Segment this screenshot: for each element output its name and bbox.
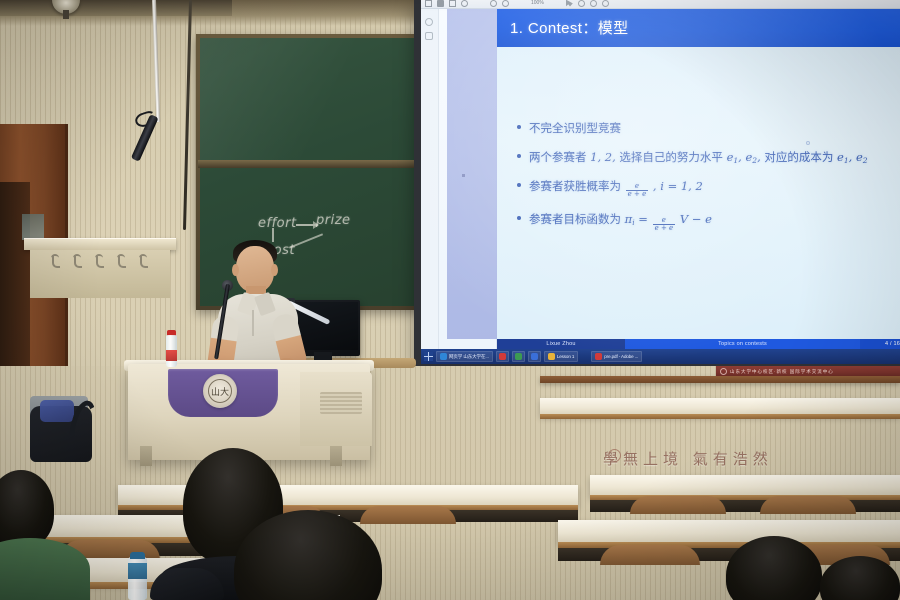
bullet-2-tail: 对应的成本为 — [764, 150, 833, 164]
coat-hook-icon — [96, 256, 104, 268]
seat-backrest — [760, 496, 856, 514]
pdf-thumbnail-marker — [462, 174, 465, 177]
speaker-shirt-placket — [252, 310, 254, 336]
slide-bullet-1: 不完全识别型竞赛 — [515, 120, 895, 136]
zoom-level-label: 100% — [531, 0, 544, 6]
backpack-pocket — [40, 400, 74, 422]
rotate-right-icon[interactable] — [502, 0, 509, 7]
chalkboard-sheen — [200, 38, 438, 160]
bullet-4-pi: πi — [625, 212, 635, 226]
search-icon[interactable] — [461, 0, 468, 7]
bullet-2-effort-vars: e1, e2, — [727, 150, 761, 164]
coat-rack-shelf — [24, 238, 176, 250]
taskbar-item-spreadsheet[interactable] — [512, 351, 525, 362]
thumbnails-icon[interactable] — [425, 18, 433, 26]
bullet-1-text: 不完全识别型竞赛 — [529, 121, 621, 135]
bullet-4-lead: 参赛者目标函数为 — [529, 212, 621, 226]
select-icon[interactable] — [566, 0, 573, 7]
bullet-4-equals: = — [638, 212, 648, 226]
presentation-icon — [531, 353, 538, 360]
seat-backrest — [600, 545, 700, 565]
slide-dust-speck — [806, 141, 810, 145]
taskbar-item-browser[interactable]: 网页学 山东大学在... — [436, 351, 493, 362]
bullet-2-mid: 选择自己的努力水平 — [619, 150, 723, 164]
taskbar-item-pdf[interactable] — [496, 351, 509, 362]
foreground-water-bottle-label — [128, 563, 147, 579]
ceiling-beam — [0, 0, 232, 16]
bullet-3-lead: 参赛者获胜概率为 — [529, 179, 621, 193]
pdf-viewer-toolbar[interactable]: 100% — [421, 0, 900, 9]
start-button-icon[interactable] — [424, 352, 433, 361]
coat-hook-icon — [52, 256, 60, 268]
water-bottle-label — [166, 350, 177, 361]
snapshot-icon[interactable] — [449, 0, 456, 7]
document-icon — [548, 353, 555, 360]
beamer-topic: Topics on contests — [625, 339, 860, 349]
taskbar-item-presentation[interactable] — [528, 351, 541, 362]
university-emblem: 山大 — [203, 374, 237, 408]
beamer-footline: Lixue Zhou Topics on contests 4 / 16 — [497, 339, 900, 349]
desk-lip — [540, 414, 900, 419]
bullet-3-tail: , i = 1, 2 — [653, 179, 703, 193]
taskbar-item-document[interactable]: Lesson 1 — [544, 351, 578, 362]
pdf-thumbnail-pane-fill[interactable] — [447, 9, 497, 339]
zoom-out-icon[interactable] — [590, 0, 597, 7]
podium-leg — [140, 446, 152, 466]
slide-bullet-3: 参赛者获胜概率为 e e + e , i = 1, 2 — [515, 178, 895, 198]
chalk-note-prize: prize — [316, 213, 351, 228]
podium-vent — [320, 392, 362, 414]
bullet-2-lead: 两个参赛者 — [529, 150, 587, 164]
zoom-in-icon[interactable] — [602, 0, 609, 7]
chalkboard-chalk-rail — [198, 160, 440, 168]
seat-backrest — [630, 496, 726, 514]
chalk-arrow-icon — [296, 224, 318, 226]
desk-row-right-1 — [590, 475, 900, 497]
taskbar-item-document-label: Lesson 1 — [557, 354, 574, 359]
adobe-reader-icon — [595, 353, 602, 360]
browser-icon — [440, 353, 447, 360]
slide-bullet-list: 不完全识别型竞赛 两个参赛者 1, 2, 选择自己的努力水平 e1, e2, 对… — [515, 120, 895, 245]
foreground-water-bottle-cap — [130, 552, 145, 559]
wall-wood-rail — [540, 376, 900, 383]
print-icon[interactable] — [437, 0, 444, 7]
beamer-author: Lixue Zhou — [497, 339, 625, 349]
wall-motto: 學無上境 氣有浩然 — [603, 448, 773, 469]
taskbar-item-browser-label: 网页学 山东大学在... — [449, 354, 489, 360]
door-window-pane — [22, 214, 44, 240]
foreground-cap — [150, 568, 224, 600]
institution-banner-text: 山东大学中心校区·新校 国际学术交流中心 — [730, 369, 834, 375]
institution-seal-icon — [720, 368, 727, 375]
projection-screen[interactable]: 100% 1. Contest：模型 不完全识别型竞赛 两个参赛者 1, — [421, 0, 900, 364]
bullet-4-fraction: e e + e — [653, 217, 676, 232]
speaker-ear-right — [271, 264, 278, 276]
coat-hook-icon — [74, 256, 82, 268]
taskbar-item-adobe-reader-label: pre.pdf - Adobe ... — [604, 354, 638, 359]
beamer-page-number: 4 / 16 — [860, 339, 900, 349]
ceiling-speaker-stem — [63, 10, 69, 19]
seat-backrest — [360, 506, 456, 524]
speaker-ear-left — [232, 264, 239, 276]
bullet-4-tail: V − e — [680, 212, 712, 226]
windows-taskbar[interactable]: 网页学 山东大学在... Lesson 1 pre.pdf - Adobe ..… — [421, 349, 900, 364]
taskbar-item-adobe-reader[interactable]: pre.pdf - Adobe ... — [591, 351, 642, 362]
slide-title: 1. Contest：模型 — [510, 17, 629, 38]
pdf-icon — [499, 353, 506, 360]
bullet-2-indices: 1, 2, — [590, 150, 616, 164]
hand-icon[interactable] — [578, 0, 585, 7]
spreadsheet-icon — [515, 353, 522, 360]
coat-hook-icon — [140, 256, 148, 268]
bullet-3-fraction: e e + e — [626, 183, 649, 198]
slide-bullet-4: 参赛者目标函数为 πi = e e + e V − e — [515, 211, 895, 231]
slide-bullet-2: 两个参赛者 1, 2, 选择自己的努力水平 e1, e2, 对应的成本为 e1,… — [515, 149, 895, 165]
desk-row-right-2 — [558, 520, 900, 544]
pdf-sidebar-rail[interactable] — [421, 9, 439, 349]
bookmarks-icon[interactable] — [425, 32, 433, 40]
bullet-2-cost-vars: e1, e2 — [837, 150, 868, 164]
lecture-hall-scene: effort prize cost 100% — [0, 0, 900, 600]
university-emblem-text: 山大 — [208, 379, 232, 403]
chalk-note-effort: effort — [258, 216, 297, 231]
coat-hook-icon — [118, 256, 126, 268]
menu-icon[interactable] — [425, 0, 432, 7]
podium-leg — [330, 446, 342, 466]
rotate-left-icon[interactable] — [490, 0, 497, 7]
